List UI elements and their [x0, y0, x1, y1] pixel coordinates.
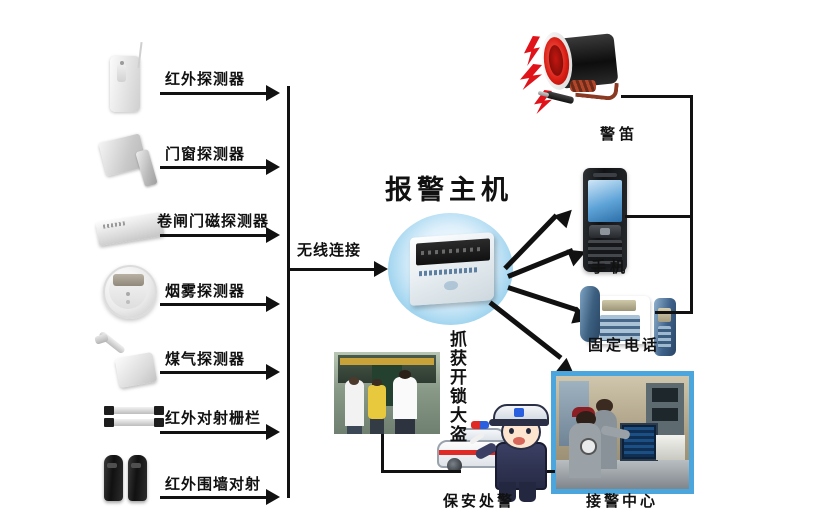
host-body: [410, 232, 494, 306]
siren-plug: [546, 91, 575, 105]
sd-vent: [113, 274, 144, 286]
host-to-siren-arrow: [554, 204, 579, 229]
pir-detector-icon: [104, 42, 150, 120]
ir-wall-beam-icon: [104, 455, 156, 505]
mc-rack-screen-1: [652, 388, 679, 402]
wireless-line: [287, 268, 379, 271]
sensor-line-smoke: [160, 303, 268, 306]
sensor-arrow-door-window: [266, 159, 280, 175]
sensor-line-ir-wall: [160, 496, 268, 499]
response-label-thief-caught: 抓获开锁大盗: [444, 330, 469, 455]
gas-detector-icon: [95, 333, 165, 391]
page-title-alarm-host: 报警主机: [385, 168, 513, 207]
dispatch-to-thief-line: [381, 470, 461, 473]
pir-lens: [117, 64, 126, 82]
mp-earpiece: [593, 173, 617, 177]
officer-eye-left: [509, 428, 514, 434]
fp-display: [602, 300, 636, 311]
sensor-label-gas: 煤气探测器: [165, 348, 245, 369]
sensor-label-ir-wall: 红外围墙对射: [165, 473, 261, 494]
pir-antenna: [137, 42, 142, 68]
wireless-connection-label: 无线连接: [297, 239, 361, 260]
door-window-detector-icon: [100, 128, 160, 194]
sensor-label-smoke: 烟雾探测器: [165, 280, 245, 301]
sensor-label-ir-barrier: 红外对射栅栏: [165, 407, 261, 428]
sensor-label-roller-magnet: 卷闸门磁探测器: [157, 210, 269, 231]
sensor-line-ir-barrier: [160, 431, 268, 434]
host-logo: [444, 281, 458, 291]
ib-cap-bl: [104, 418, 114, 427]
officer-mouth: [513, 437, 525, 445]
mc-printer: [656, 435, 685, 460]
wireless-arrow: [374, 261, 388, 277]
officer-eye-right: [526, 428, 531, 434]
response-label-dispatch: 保安处警: [443, 490, 515, 511]
ph-person-1: [345, 380, 364, 426]
mc-shoulder-badge: [580, 438, 597, 454]
host-to-center-line: [488, 301, 562, 360]
host-display: [416, 238, 490, 265]
host-brand-text: [419, 267, 477, 276]
output-label-center: 接警中心: [586, 490, 658, 511]
sensor-arrow-roller-magnet: [266, 227, 280, 243]
output-label-mobile: 手机: [591, 256, 629, 277]
siren-coil: [570, 80, 596, 92]
sensor-arrow-pir: [266, 85, 280, 101]
output-label-landline: 固定电话: [588, 334, 660, 355]
siren-bolt-1: [524, 36, 540, 66]
mc-rack-screen-2: [652, 408, 679, 422]
sensor-arrow-gas: [266, 364, 280, 380]
ph-shop-sign: [340, 358, 433, 365]
sensor-arrow-ir-wall: [266, 489, 280, 505]
ph-person-3: [393, 377, 416, 420]
sensor-label-door-window: 门窗探测器: [165, 143, 245, 164]
mp-navpad-center: [600, 228, 610, 235]
mp-screen: [588, 180, 622, 222]
ir-post-right: [128, 455, 147, 501]
ib-cap-tr: [154, 406, 164, 415]
siren-bolt-2: [520, 64, 542, 90]
ph-person-1-head: [349, 377, 360, 385]
officer-leg-right: [519, 482, 536, 502]
ir-post-left: [104, 455, 123, 501]
bracket-line-vertical: [690, 95, 693, 314]
host-to-landline-line: [507, 285, 577, 312]
sensor-line-pir: [160, 92, 268, 95]
smoke-detector-icon: [100, 262, 158, 320]
ir-beam-barrier-icon: [104, 406, 168, 432]
output-label-siren: 警笛: [600, 123, 638, 144]
sensor-line-gas: [160, 371, 268, 374]
diagram-canvas: 红外探测器 门窗探测器 卷闸门磁探测器 烟雾探测器 煤气探测器: [0, 0, 825, 524]
ph-person-2-vest: [368, 385, 386, 419]
sensor-line-roller-magnet: [160, 234, 268, 237]
sensor-label-pir: 红外探测器: [165, 68, 245, 89]
officer-cap-badge: [514, 408, 524, 417]
pir-led: [120, 61, 124, 65]
ib-cap-tl: [104, 406, 114, 415]
sensor-line-door-window: [160, 166, 268, 169]
rs-body: [96, 212, 165, 246]
officer-cap-brim: [489, 419, 549, 426]
gs-body: [115, 352, 158, 388]
sensor-arrow-ir-barrier: [266, 424, 280, 440]
sd-led: [126, 292, 130, 296]
thief-caught-photo: [334, 352, 440, 434]
siren-icon: [520, 28, 655, 113]
bracket-line-siren: [621, 95, 693, 98]
ib-cap-br: [154, 418, 164, 427]
monitoring-center-photo: [551, 371, 694, 494]
sensor-bus-line: [287, 86, 290, 498]
sd-led-2: [126, 300, 130, 304]
bracket-line-mobile: [625, 215, 693, 218]
bracket-line-landline: [655, 311, 693, 314]
sensor-arrow-smoke: [266, 296, 280, 312]
